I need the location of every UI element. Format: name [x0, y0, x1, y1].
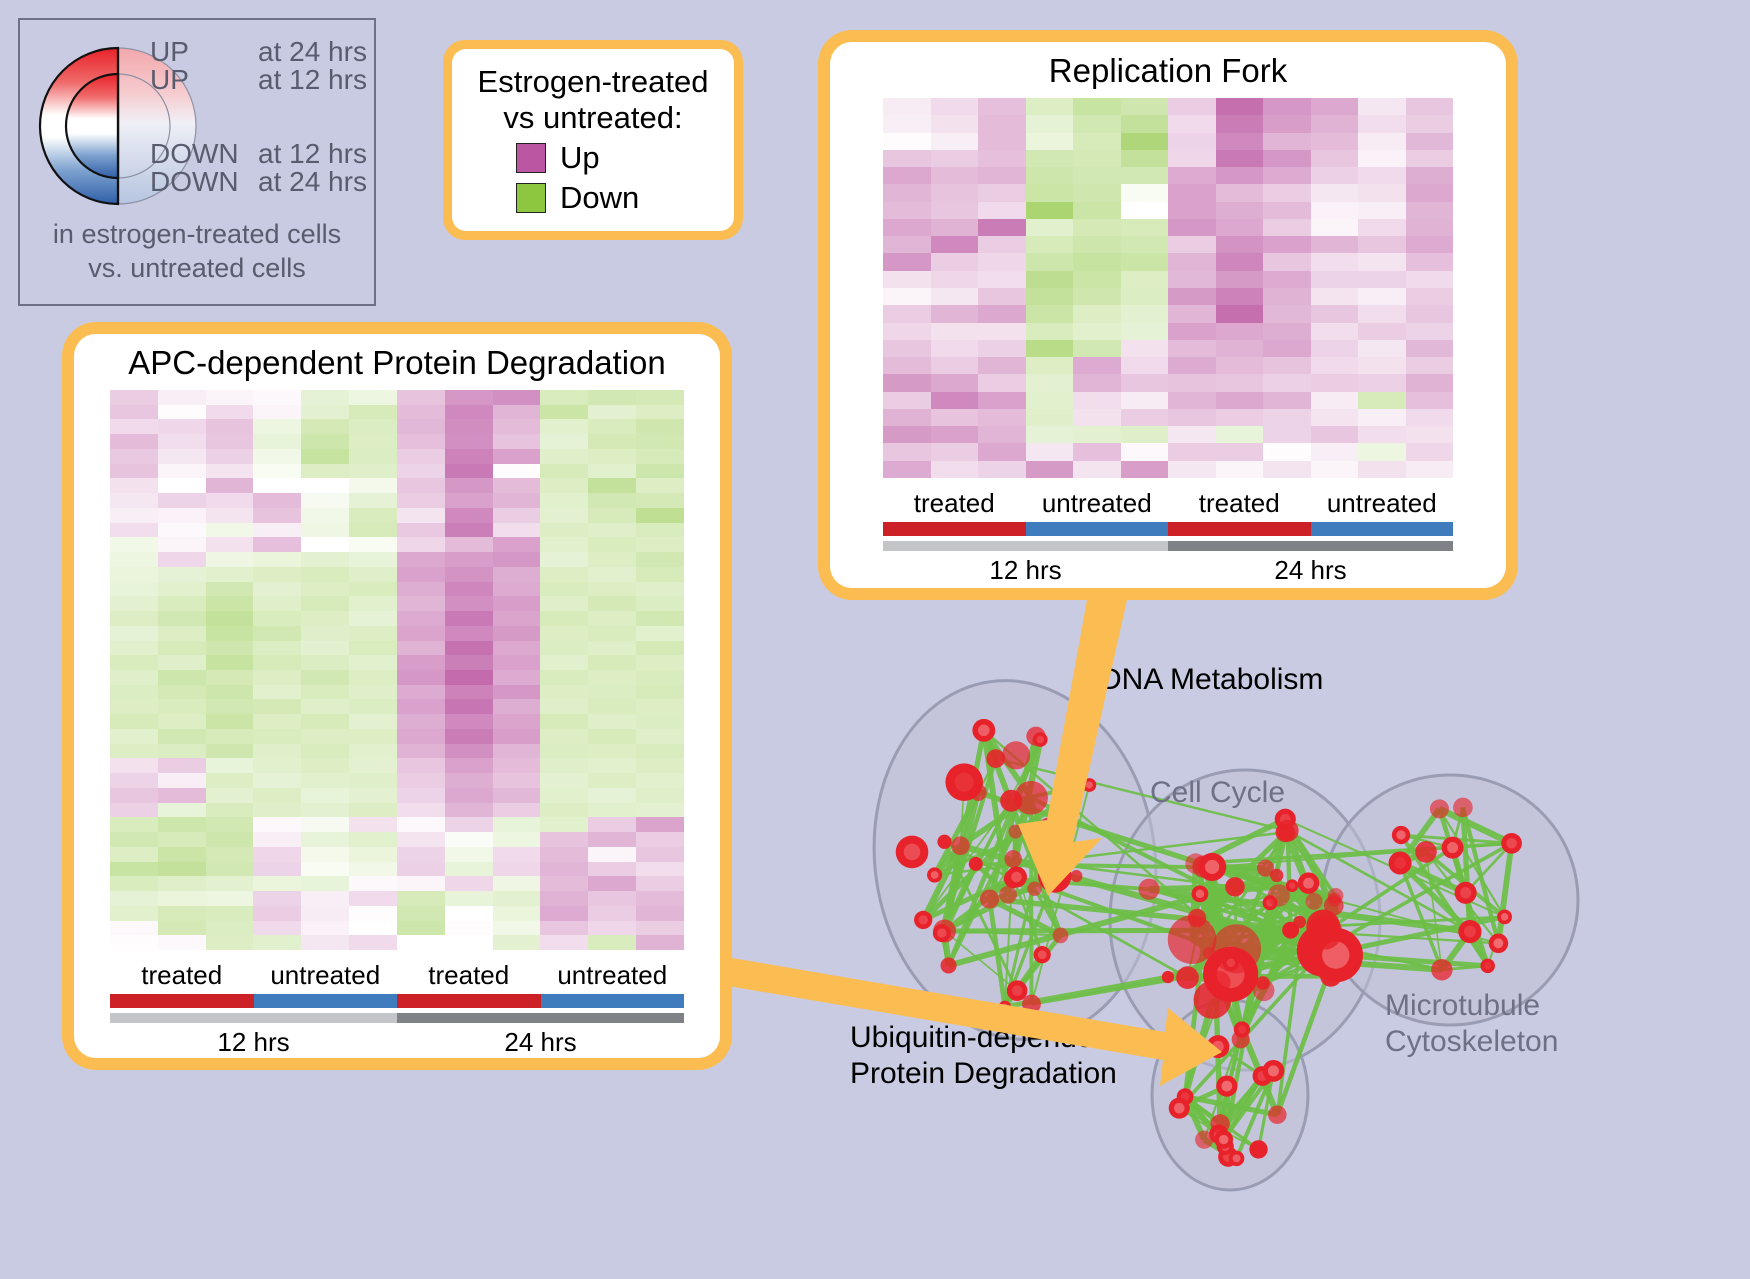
- heatmap-cell: [978, 202, 1026, 219]
- heatmap-cell: [301, 626, 349, 641]
- heatmap-cell: [588, 596, 636, 611]
- network-node[interactable]: [914, 911, 932, 929]
- heatmap-replication-fork: [883, 98, 1453, 478]
- axis-group-label-rf-0: treated: [883, 488, 1026, 519]
- heatmap-cell: [158, 876, 206, 891]
- heatmap-cell: [397, 405, 445, 420]
- heatmap-cell: [493, 655, 541, 670]
- heatmap-cell: [158, 508, 206, 523]
- heatmap-cell: [349, 862, 397, 877]
- axis-bar-rf-untreated-24: [1311, 522, 1454, 536]
- network-node[interactable]: [1207, 1035, 1230, 1058]
- heatmap-cell: [493, 758, 541, 773]
- heatmap-cell: [588, 508, 636, 523]
- heatmap-cell: [206, 582, 254, 597]
- heatmap-cell: [445, 449, 493, 464]
- network-node[interactable]: [1033, 732, 1048, 747]
- network-node[interactable]: [1455, 882, 1477, 904]
- heatmap-cell: [397, 419, 445, 434]
- heatmap-cell: [883, 184, 931, 201]
- heatmap-cell: [1406, 288, 1454, 305]
- axis-group-label-apc-3: untreated: [541, 960, 685, 991]
- heatmap-cell: [206, 611, 254, 626]
- heatmap-cell: [397, 729, 445, 744]
- heatmap-cell: [636, 567, 684, 582]
- network-node[interactable]: [1053, 928, 1069, 944]
- heatmap-cell: [1311, 253, 1359, 270]
- network-node[interactable]: [1234, 1021, 1250, 1037]
- network-node[interactable]: [1263, 1060, 1285, 1082]
- heatmap-cell: [636, 523, 684, 538]
- heatmap-cell: [110, 419, 158, 434]
- heatmap-cell: [253, 935, 301, 950]
- network-node[interactable]: [1225, 877, 1245, 897]
- network-node[interactable]: [1327, 893, 1341, 907]
- heatmap-cell: [1216, 409, 1264, 426]
- network-node[interactable]: [927, 867, 942, 882]
- heatmap-cell: [978, 323, 1026, 340]
- heatmap-cell: [397, 935, 445, 950]
- heatmap-cell: [1311, 184, 1359, 201]
- network-node[interactable]: [970, 784, 987, 801]
- heatmap-cell: [978, 305, 1026, 322]
- heatmap-cell: [883, 219, 931, 236]
- network-node[interactable]: [1007, 980, 1028, 1001]
- network-node[interactable]: [1041, 818, 1054, 831]
- heatmap-cell: [397, 714, 445, 729]
- network-node[interactable]: [986, 749, 1005, 768]
- heatmap-cell: [540, 596, 588, 611]
- heatmap-cell: [636, 626, 684, 641]
- legend-label-down: Down: [560, 180, 670, 216]
- heatmap-cell: [1168, 167, 1216, 184]
- heatmap-cell: [301, 508, 349, 523]
- heatmap-cell: [883, 115, 931, 132]
- heatmap-cell: [158, 935, 206, 950]
- heatmap-cell: [206, 862, 254, 877]
- heatmap-cell: [1168, 202, 1216, 219]
- network-node[interactable]: [1453, 798, 1473, 818]
- heatmap-cell: [1311, 340, 1359, 357]
- heatmap-cell: [978, 115, 1026, 132]
- heatmap-cell: [636, 641, 684, 656]
- heatmap-cell: [636, 537, 684, 552]
- heatmap-cell: [540, 876, 588, 891]
- heatmap-apc: [110, 390, 684, 950]
- axis-group-label-rf-1: untreated: [1026, 488, 1169, 519]
- heatmap-cell: [110, 921, 158, 936]
- heatmap-cell: [636, 464, 684, 479]
- heatmap-cell: [158, 832, 206, 847]
- heatmap-cell: [1263, 167, 1311, 184]
- heatmap-cell: [636, 685, 684, 700]
- heatmap-cell: [110, 862, 158, 877]
- heatmap-cell: [978, 219, 1026, 236]
- heatmap-cell: [1168, 323, 1216, 340]
- network-node[interactable]: [1257, 860, 1274, 877]
- heatmap-cell: [206, 464, 254, 479]
- heatmap-cell: [301, 611, 349, 626]
- network-node[interactable]: [1497, 909, 1512, 924]
- axis-bar-apc-untreated-24: [541, 994, 685, 1008]
- heatmap-cell: [588, 582, 636, 597]
- heatmap-cell: [1073, 167, 1121, 184]
- heatmap-cell: [1121, 461, 1169, 478]
- network-node[interactable]: [1138, 879, 1159, 900]
- heatmap-cell: [1168, 357, 1216, 374]
- heatmap-cell: [1263, 115, 1311, 132]
- heatmap-cell: [206, 508, 254, 523]
- network-node[interactable]: [1298, 872, 1319, 893]
- network-node[interactable]: [1442, 837, 1464, 859]
- network-node[interactable]: [1282, 922, 1299, 939]
- legend-item-up: Up: [516, 140, 670, 176]
- heatmap-cell: [1358, 288, 1406, 305]
- heatmap-cell: [883, 236, 931, 253]
- network-node[interactable]: [1277, 820, 1299, 842]
- heatmap-cell: [1216, 115, 1264, 132]
- heatmap-cell: [445, 611, 493, 626]
- heatmap-cell: [1073, 461, 1121, 478]
- network-node[interactable]: [937, 835, 951, 849]
- network-node[interactable]: [1229, 1151, 1245, 1167]
- heatmap-cell: [1026, 167, 1074, 184]
- heatmap-cell: [206, 847, 254, 862]
- heatmap-cell: [301, 788, 349, 803]
- axis-group-label-apc-1: untreated: [254, 960, 398, 991]
- heatmap-cell: [397, 906, 445, 921]
- colorwheel-key-down12: DOWN: [150, 140, 258, 168]
- network-node[interactable]: [951, 836, 970, 855]
- heatmap-cell: [931, 115, 979, 132]
- network-node[interactable]: [1210, 1114, 1229, 1133]
- heatmap-cell: [158, 626, 206, 641]
- network-node[interactable]: [999, 1001, 1011, 1013]
- network-node[interactable]: [972, 719, 995, 742]
- heatmap-cell: [301, 832, 349, 847]
- heatmap-cell: [588, 935, 636, 950]
- cluster-label-cell-cycle: Cell Cycle: [1150, 775, 1285, 811]
- network-node[interactable]: [1223, 955, 1239, 971]
- network-node[interactable]: [969, 857, 983, 871]
- heatmap-cell: [253, 921, 301, 936]
- heatmap-cell: [1311, 288, 1359, 305]
- heatmap-cell: [978, 374, 1026, 391]
- heatmap-cell: [1216, 150, 1264, 167]
- heatmap-cell: [110, 390, 158, 405]
- heatmap-cell: [1073, 271, 1121, 288]
- network-node[interactable]: [1431, 959, 1452, 980]
- axis-time-label-apc-12: 12 hrs: [110, 1027, 397, 1058]
- network-node[interactable]: [1195, 1131, 1213, 1149]
- network-node[interactable]: [933, 924, 951, 942]
- axis-bar-apc-24hrs: [397, 1013, 684, 1023]
- heatmap-cell: [1026, 253, 1074, 270]
- network-node[interactable]: [1480, 959, 1494, 973]
- network-node[interactable]: [1216, 1075, 1237, 1096]
- network-node[interactable]: [1162, 971, 1174, 983]
- heatmap-cell: [445, 434, 493, 449]
- heatmap-cell: [445, 699, 493, 714]
- heatmap-cell: [1073, 184, 1121, 201]
- heatmap-cell: [1026, 374, 1074, 391]
- heatmap-cell: [1216, 461, 1264, 478]
- heatmap-cell: [588, 419, 636, 434]
- updown-legend-title: Estrogen-treated vs untreated:: [478, 64, 709, 135]
- heatmap-cell: [1358, 305, 1406, 322]
- heatmap-cell: [931, 374, 979, 391]
- heatmap-cell: [1358, 115, 1406, 132]
- axis-group-bar-rf: [883, 522, 1453, 536]
- heatmap-cell: [636, 921, 684, 936]
- colorwheel-value-up12: at 12 hrs: [258, 66, 367, 94]
- heatmap-cell: [253, 655, 301, 670]
- heatmap-cell: [1406, 323, 1454, 340]
- heatmap-cell: [636, 655, 684, 670]
- heatmap-cell: [206, 523, 254, 538]
- heatmap-cell: [636, 596, 684, 611]
- network-node[interactable]: [1268, 1105, 1287, 1124]
- heatmap-cell: [253, 390, 301, 405]
- network-node[interactable]: [1458, 920, 1481, 943]
- network-node[interactable]: [941, 957, 957, 973]
- heatmap-cell: [540, 935, 588, 950]
- heatmap-cell: [110, 464, 158, 479]
- heatmap-cell: [636, 744, 684, 759]
- heatmap-cell: [1311, 98, 1359, 115]
- network-node[interactable]: [1430, 799, 1449, 818]
- heatmap-cell: [978, 461, 1026, 478]
- heatmap-cell: [493, 582, 541, 597]
- heatmap-cell: [1073, 236, 1121, 253]
- heatmap-cell: [1073, 426, 1121, 443]
- heatmap-cell: [1168, 150, 1216, 167]
- heatmap-cell: [1358, 236, 1406, 253]
- heatmap-cell: [206, 537, 254, 552]
- heatmap-cell: [540, 906, 588, 921]
- network-node[interactable]: [1000, 790, 1022, 812]
- colorwheel-value-up24: at 24 hrs: [258, 38, 367, 66]
- heatmap-cell: [110, 405, 158, 420]
- heatmap-cell: [397, 464, 445, 479]
- heatmap-cell: [158, 537, 206, 552]
- network-node[interactable]: [1305, 893, 1322, 910]
- heatmap-cell: [301, 655, 349, 670]
- heatmap-cell: [588, 876, 636, 891]
- heatmap-cell: [445, 537, 493, 552]
- heatmap-cell: [397, 670, 445, 685]
- heatmap-cell: [1216, 288, 1264, 305]
- heatmap-cell: [1121, 167, 1169, 184]
- network-node[interactable]: [1027, 881, 1042, 896]
- network-node[interactable]: [999, 886, 1017, 904]
- heatmap-cell: [397, 611, 445, 626]
- heatmap-cell: [253, 478, 301, 493]
- heatmap-cell: [493, 803, 541, 818]
- heatmap-cell: [1121, 305, 1169, 322]
- heatmap-cell: [493, 891, 541, 906]
- heatmap-cell: [1263, 305, 1311, 322]
- heatmap-cell: [931, 305, 979, 322]
- heatmap-cell: [883, 167, 931, 184]
- axis-bar-rf-treated-24: [1168, 522, 1311, 536]
- heatmap-cell: [1216, 98, 1264, 115]
- heatmap-cell: [397, 744, 445, 759]
- heatmap-cell: [540, 611, 588, 626]
- heatmap-cell: [1263, 253, 1311, 270]
- heatmap-cell: [445, 390, 493, 405]
- heatmap-cell: [445, 670, 493, 685]
- heatmap-cell: [540, 817, 588, 832]
- network-node[interactable]: [1038, 859, 1071, 892]
- heatmap-cell: [206, 434, 254, 449]
- colorwheel-key-up12: UP: [150, 66, 258, 94]
- heatmap-cell: [397, 582, 445, 597]
- heatmap-cell: [493, 611, 541, 626]
- heatmap-cell: [978, 392, 1026, 409]
- cluster-label-ubiquitin-line1: Ubiquitin-dependent: [850, 1020, 1119, 1056]
- network-node[interactable]: [1006, 866, 1027, 887]
- heatmap-cell: [588, 891, 636, 906]
- heatmap-cell: [1073, 357, 1121, 374]
- network-node[interactable]: [1070, 870, 1082, 882]
- heatmap-cell: [1406, 271, 1454, 288]
- heatmap-cell: [1311, 461, 1359, 478]
- heatmap-cell: [1121, 426, 1169, 443]
- heatmap-cell: [883, 461, 931, 478]
- heatmap-cell: [253, 596, 301, 611]
- network-node[interactable]: [1169, 1098, 1190, 1119]
- heatmap-cell: [349, 405, 397, 420]
- heatmap-cell: [110, 803, 158, 818]
- heatmap-cell: [397, 921, 445, 936]
- network-node[interactable]: [1415, 841, 1437, 863]
- heatmap-cell: [1073, 323, 1121, 340]
- axis-bar-rf-24hrs: [1168, 541, 1453, 551]
- heatmap-cell: [978, 184, 1026, 201]
- heatmap-cell: [158, 921, 206, 936]
- heatmap-cell: [349, 935, 397, 950]
- network-node[interactable]: [1214, 1130, 1233, 1149]
- heatmap-cell: [1263, 323, 1311, 340]
- network-node[interactable]: [980, 889, 999, 908]
- heatmap-cell: [588, 788, 636, 803]
- heatmap-cell: [253, 758, 301, 773]
- heatmap-cell: [253, 729, 301, 744]
- heatmap-cell: [158, 596, 206, 611]
- heatmap-cell: [540, 449, 588, 464]
- heatmap-cell: [253, 405, 301, 420]
- heatmap-cell: [349, 537, 397, 552]
- network-node[interactable]: [1034, 946, 1051, 963]
- network-node[interactable]: [1249, 1140, 1267, 1158]
- heatmap-cell: [1406, 133, 1454, 150]
- network-node[interactable]: [1002, 741, 1030, 769]
- heatmap-cell: [445, 773, 493, 788]
- heatmap-cell: [978, 167, 1026, 184]
- network-node[interactable]: [1489, 934, 1509, 954]
- heatmap-cell: [253, 699, 301, 714]
- heatmap-cell: [1216, 167, 1264, 184]
- heatmap-cell: [636, 832, 684, 847]
- network-node[interactable]: [896, 836, 929, 869]
- heatmap-cell: [301, 891, 349, 906]
- heatmap-cell: [540, 832, 588, 847]
- heatmap-cell: [349, 611, 397, 626]
- network-node[interactable]: [1207, 971, 1230, 994]
- network-node[interactable]: [1501, 833, 1522, 854]
- network-node[interactable]: [1307, 914, 1342, 949]
- heatmap-cell: [1026, 357, 1074, 374]
- network-node[interactable]: [1022, 995, 1041, 1014]
- heatmap-cell: [1311, 443, 1359, 460]
- heatmap-cell: [445, 714, 493, 729]
- heatmap-cell: [301, 847, 349, 862]
- heatmap-cell: [1073, 150, 1121, 167]
- heatmap-cell: [1216, 271, 1264, 288]
- heatmap-cell: [1168, 409, 1216, 426]
- network-node[interactable]: [1198, 853, 1226, 881]
- heatmap-cell: [540, 788, 588, 803]
- network-node[interactable]: [1176, 966, 1199, 989]
- heatmap-cell: [445, 862, 493, 877]
- network-node[interactable]: [1192, 885, 1209, 902]
- heatmap-cell: [493, 523, 541, 538]
- heatmap-cell: [301, 685, 349, 700]
- heatmap-cell: [110, 729, 158, 744]
- heatmap-cell: [1358, 98, 1406, 115]
- heatmap-cell: [1026, 184, 1074, 201]
- heatmap-cell: [493, 862, 541, 877]
- network-node[interactable]: [1082, 778, 1096, 792]
- heatmap-cell: [883, 305, 931, 322]
- heatmap-cell: [445, 464, 493, 479]
- heatmap-cell: [540, 670, 588, 685]
- heatmap-cell: [1073, 409, 1121, 426]
- heatmap-cell: [110, 891, 158, 906]
- heatmap-cell: [1216, 323, 1264, 340]
- heatmap-cell: [636, 862, 684, 877]
- network-node[interactable]: [1392, 826, 1410, 844]
- heatmap-cell: [1358, 150, 1406, 167]
- heatmap-cell: [445, 758, 493, 773]
- heatmap-cell: [110, 449, 158, 464]
- network-node[interactable]: [1268, 884, 1290, 906]
- heatmap-cell: [349, 464, 397, 479]
- heatmap-cell: [1358, 133, 1406, 150]
- network-node[interactable]: [1009, 825, 1023, 839]
- heatmap-cell: [253, 537, 301, 552]
- heatmap-cell: [588, 847, 636, 862]
- network-node[interactable]: [1389, 852, 1412, 875]
- heatmap-cell: [1216, 305, 1264, 322]
- heatmap-cell: [301, 935, 349, 950]
- heatmap-cell: [158, 611, 206, 626]
- heatmap-cell: [349, 419, 397, 434]
- axis-group-labels-apc: treated untreated treated untreated: [110, 960, 684, 991]
- heatmap-cell: [301, 552, 349, 567]
- heatmap-cell: [978, 271, 1026, 288]
- heatmap-cell: [1358, 426, 1406, 443]
- heatmap-cell: [636, 390, 684, 405]
- network-node[interactable]: [1168, 915, 1217, 964]
- heatmap-cell: [397, 803, 445, 818]
- heatmap-cell: [253, 523, 301, 538]
- heatmap-cell: [158, 773, 206, 788]
- heatmap-cell: [253, 685, 301, 700]
- heatmap-cell: [540, 862, 588, 877]
- network-node[interactable]: [1004, 850, 1021, 867]
